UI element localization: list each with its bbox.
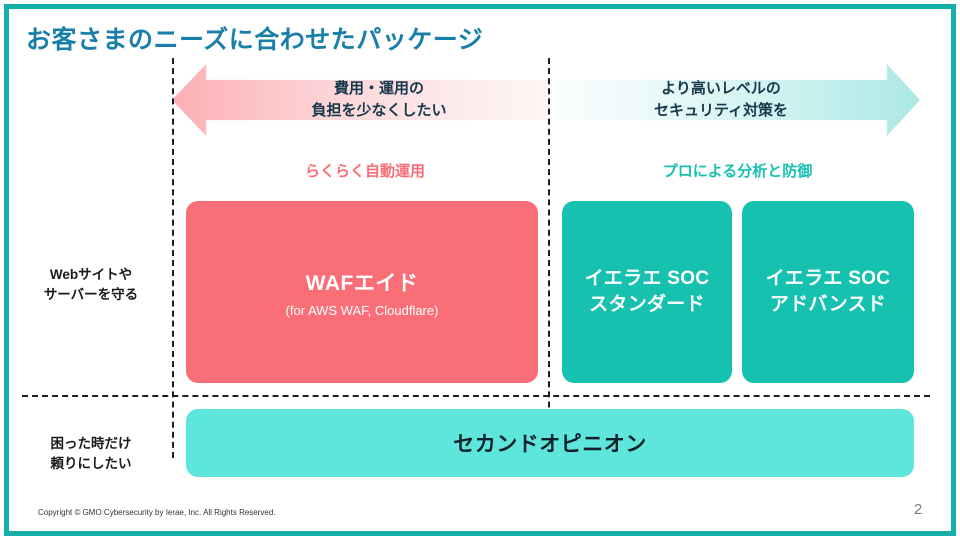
arrow-right-line2: セキュリティ対策を <box>654 100 788 122</box>
slide-frame-right <box>951 4 956 536</box>
matrix-divider-vertical-left <box>172 58 174 458</box>
row-label-on-demand-line1: 困った時だけ <box>16 434 166 454</box>
arrow-left-label-group: 費用・運用の 負担を少なくしたい <box>172 64 552 136</box>
slide-frame-left <box>4 4 9 536</box>
row-label-protect-web: Webサイトや サーバーを守る <box>16 265 166 306</box>
arrow-left-line1: 費用・運用の <box>334 78 424 100</box>
card-second-opinion[interactable]: セカンドオピニオン <box>186 409 914 477</box>
slide-canvas: お客さまのニーズに合わせたパッケージ 費用・運用の 負担を少なくしたい より高い… <box>0 0 960 540</box>
copyright-notice: Copyright © GMO Cybersecurity by Ierae, … <box>38 508 276 517</box>
column-caption-pro-defense: プロによる分析と防御 <box>560 160 915 181</box>
card-soc-standard-line1: イエラエ SOC <box>585 266 710 292</box>
card-waf-aid-subtitle: (for AWS WAF, Cloudflare) <box>286 303 439 318</box>
page-title: お客さまのニーズに合わせたパッケージ <box>26 20 483 56</box>
row-label-protect-web-line1: Webサイトや <box>16 265 166 285</box>
arrow-left-line2: 負担を少なくしたい <box>311 100 446 122</box>
row-label-protect-web-line2: サーバーを守る <box>16 285 166 305</box>
card-soc-advanced-line1: イエラエ SOC <box>766 266 891 292</box>
card-soc-advanced-line2: アドバンスド <box>770 292 886 318</box>
card-soc-standard-line2: スタンダード <box>589 292 705 318</box>
slide-frame-bottom <box>4 531 956 536</box>
card-soc-advanced[interactable]: イエラエ SOC アドバンスド <box>742 201 914 383</box>
arrow-higher-security: より高いレベルの セキュリティ対策を <box>552 64 920 136</box>
matrix-divider-horizontal <box>22 395 930 397</box>
matrix-divider-vertical-right <box>548 58 550 458</box>
arrow-cost-reduction: 費用・運用の 負担を少なくしたい <box>172 64 552 136</box>
arrow-right-label-group: より高いレベルの セキュリティ対策を <box>552 64 920 136</box>
card-waf-aid[interactable]: WAFエイド (for AWS WAF, Cloudflare) <box>186 201 538 383</box>
page-number: 2 <box>905 501 931 518</box>
card-second-opinion-title: セカンドオピニオン <box>453 428 647 458</box>
row-label-on-demand-line2: 頼りにしたい <box>16 454 166 474</box>
column-caption-automation: らくらく自動運用 <box>190 160 540 181</box>
row-label-on-demand: 困った時だけ 頼りにしたい <box>16 434 166 475</box>
card-waf-aid-title: WAFエイド <box>306 267 419 297</box>
card-soc-standard[interactable]: イエラエ SOC スタンダード <box>562 201 732 383</box>
arrow-right-line1: より高いレベルの <box>661 78 781 100</box>
slide-frame-top <box>4 4 956 9</box>
